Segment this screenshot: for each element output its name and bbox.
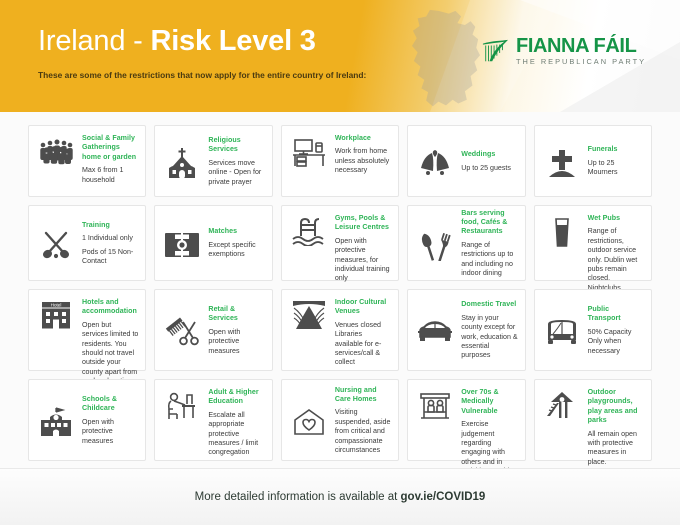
card-text: All remain open with protective measures… [588,430,644,468]
card-text: Escalate all appropriate protective meas… [208,411,264,458]
card-body: Public Transport 50% Capacity Only when … [588,304,644,356]
card-text: Open with protective measures [208,328,264,356]
card-text: 1 Individual only [82,234,138,243]
card-text: Range of restrictions up to and includin… [461,241,517,279]
card-matches[interactable]: Matches Except specific exemptions [154,205,272,281]
playground-slide-icon [541,387,583,420]
card-body: Bars serving food, Cafés & Restaurants R… [461,208,517,279]
card-title: Religious Services [208,136,264,155]
card-text: Except specific exemptions [208,241,264,260]
card-retail-services[interactable]: Retail & Services Open with protective m… [154,289,272,371]
svg-text:Hotel: Hotel [51,303,62,308]
card-title: Workplace [335,134,391,143]
two-elderly-people-icon [414,387,456,420]
card-body: Workplace Work from home unless absolute… [335,133,391,176]
card-body: Gyms, Pools & Leisure Centres Open with … [335,213,391,284]
logo-name: FIANNA FÁIL [516,36,646,57]
card-public-transport[interactable]: Public Transport 50% Capacity Only when … [534,289,652,371]
church-icon [161,144,203,179]
card-title: Social & Family Gatherings home or garde… [82,134,138,162]
card-body: Funerals Up to 25 Mourners [588,144,644,177]
fianna-fail-logo: FIANNA FÁIL THE REPUBLICAN PARTY [481,36,646,67]
card-body: Adult & Higher Education Escalate all ap… [208,387,264,458]
pint-glass-icon [541,213,583,248]
card-weddings[interactable]: Weddings Up to 25 guests [407,125,525,197]
card-religious-services[interactable]: Religious Services Services move online … [154,125,272,197]
card-title: Hotels and accommodation [82,298,138,317]
grid-row: Social & Family Gatherings home or garde… [28,125,652,197]
card-title: Indoor Cultural Venues [335,298,391,317]
card-text: Open with protective measures [82,418,138,446]
card-indoor-cultural-venues[interactable]: Indoor Cultural Venues Venues closed Lib… [281,289,399,371]
sports-pitch-icon [161,229,203,258]
card-workplace[interactable]: Workplace Work from home unless absolute… [281,125,399,197]
student-at-desk-icon [161,387,203,422]
card-title: Training [82,221,138,230]
theatre-curtains-icon [288,297,330,330]
card-title: Over 70s & Medically Vulnerable [461,388,517,416]
card-title: Matches [208,227,264,236]
card-body: Nursing and Care Homes Visiting suspende… [335,385,391,456]
card-body: Social & Family Gatherings home or garde… [82,133,138,185]
card-title: Bars serving food, Cafés & Restaurants [461,209,517,237]
bus-icon [541,315,583,346]
card-text: Open with protective measures, for indiv… [335,237,391,284]
card-training[interactable]: Training 1 Individual only Pods of 15 No… [28,205,146,281]
card-wet-pubs[interactable]: Wet Pubs Range of restrictions, outdoor … [534,205,652,281]
restrictions-grid: Social & Family Gatherings home or garde… [0,112,680,468]
logo-text-block: FIANNA FÁIL THE REPUBLICAN PARTY [516,36,646,67]
house-with-heart-icon [288,404,330,437]
page-subtitle: These are some of the restrictions that … [38,70,366,80]
card-social-family-gatherings[interactable]: Social & Family Gatherings home or garde… [28,125,146,197]
card-text: Visiting suspended, aside from critical … [335,408,391,455]
card-text: Max 6 from 1 household [82,166,138,185]
card-text-secondary: Pods of 15 Non-Contact [82,248,138,267]
card-over-70s-medically-vulnerable[interactable]: Over 70s & Medically Vulnerable Exercise… [407,379,525,461]
card-title: Funerals [588,145,644,154]
card-outdoor-playgrounds[interactable]: Outdoor playgrounds, play areas and park… [534,379,652,461]
card-title: Adult & Higher Education [208,388,264,407]
card-title: Weddings [461,150,517,159]
footer-link-covid19[interactable]: gov.ie/COVID19 [401,491,486,503]
fianna-fail-harp-icon [481,39,509,65]
card-text: 50% Capacity Only when necessary [588,328,644,356]
footer-bar: More detailed information is available a… [0,468,680,525]
card-body: Indoor Cultural Venues Venues closed Lib… [335,297,391,368]
card-text: Up to 25 guests [461,164,517,173]
car-icon [414,316,456,345]
infographic-page: Ireland - Risk Level 3 These are some of… [0,0,680,525]
grid-row: Schools & Childcare Open with protective… [28,379,652,461]
desk-computer-icon [288,133,330,168]
card-funerals[interactable]: Funerals Up to 25 Mourners [534,125,652,197]
wedding-bells-icon [414,146,456,177]
card-gyms-pools-leisure[interactable]: Gyms, Pools & Leisure Centres Open with … [281,205,399,281]
grid-row: Hotel Hotels and accommodation Open but … [28,289,652,371]
card-text: Stay in your county except for work, edu… [461,314,517,361]
card-title: Wet Pubs [588,214,644,223]
card-title: Public Transport [588,305,644,324]
title-bold: Risk Level 3 [150,25,315,57]
ireland-map-watermark-icon [398,8,494,112]
card-hotels-accommodation[interactable]: Hotel Hotels and accommodation Open but … [28,289,146,371]
title-light: Ireland - [38,25,150,57]
swimming-pool-ladder-icon [288,213,330,246]
card-title: Domestic Travel [461,300,517,309]
card-body: Weddings Up to 25 guests [461,149,517,173]
grave-cross-icon [541,145,583,178]
card-body: Retail & Services Open with protective m… [208,304,264,356]
footer-text-plain: More detailed information is available a… [195,491,401,503]
header-text-block: Ireland - Risk Level 3 These are some of… [38,24,366,80]
comb-scissors-icon [161,313,203,348]
school-building-icon [35,403,77,438]
card-body: Matches Except specific exemptions [208,226,264,259]
hurling-sticks-icon [35,226,77,261]
card-text: Services move online - Open for private … [208,159,264,187]
card-body: Domestic Travel Stay in your county exce… [461,299,517,360]
card-text: Up to 25 Mourners [588,159,644,178]
card-body: Outdoor playgrounds, play areas and park… [588,387,644,467]
card-text: Work from home unless absolutely necessa… [335,147,391,175]
footer-message: More detailed information is available a… [195,491,486,503]
hotel-building-icon: Hotel [35,297,77,330]
header-banner: Ireland - Risk Level 3 These are some of… [0,0,680,112]
card-adult-higher-education[interactable]: Adult & Higher Education Escalate all ap… [154,379,272,461]
grid-row: Training 1 Individual only Pods of 15 No… [28,205,652,281]
card-nursing-care-homes[interactable]: Nursing and Care Homes Visiting suspende… [281,379,399,461]
card-domestic-travel[interactable]: Domestic Travel Stay in your county exce… [407,289,525,371]
card-title: Outdoor playgrounds, play areas and park… [588,388,644,426]
card-bars-cafes-restaurants[interactable]: Bars serving food, Cafés & Restaurants R… [407,205,525,281]
logo-tagline: THE REPUBLICAN PARTY [516,57,646,67]
fork-knife-icon [414,226,456,261]
card-body: Schools & Childcare Open with protective… [82,394,138,446]
page-title: Ireland - Risk Level 3 [38,24,366,58]
card-title: Retail & Services [208,305,264,324]
card-text: Venues closed Libraries available for e-… [335,321,391,368]
crowd-of-people-icon [35,133,77,166]
card-title: Gyms, Pools & Leisure Centres [335,214,391,233]
card-title: Nursing and Care Homes [335,386,391,405]
card-body: Training 1 Individual only Pods of 15 No… [82,220,138,267]
card-schools-childcare[interactable]: Schools & Childcare Open with protective… [28,379,146,461]
card-title: Schools & Childcare [82,395,138,414]
card-body: Religious Services Services move online … [208,135,264,187]
